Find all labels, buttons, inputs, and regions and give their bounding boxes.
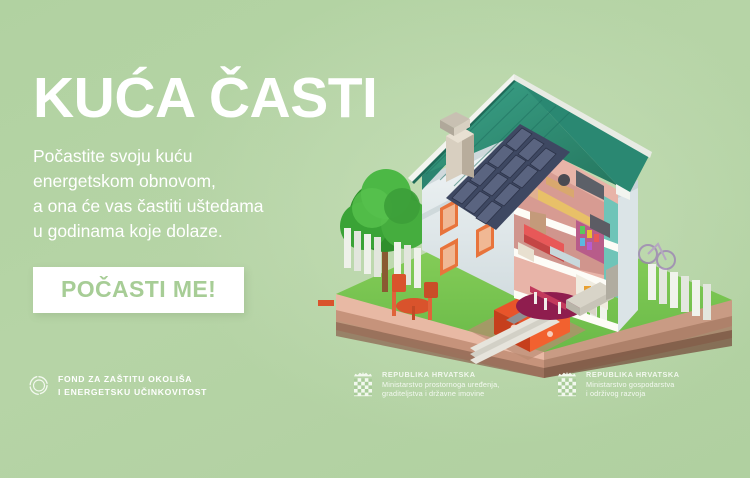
ministry-1-republic: REPUBLIKA HRVATSKA <box>382 370 499 380</box>
fond-logo-block[interactable]: FOND ZA ZAŠTITU OKOLIŠA I ENERGETSKU UČI… <box>28 372 207 399</box>
recycling-circle-logo <box>28 372 50 399</box>
fond-logo-text: FOND ZA ZAŠTITU OKOLIŠA I ENERGETSKU UČI… <box>58 373 207 398</box>
subcopy-line-1: Počastite svoju kuću <box>33 144 433 169</box>
subcopy: Počastite svoju kuću energetskom obnovom… <box>33 144 433 243</box>
ministry-2-logo-block[interactable]: REPUBLIKA HRVATSKA Ministarstvo gospodar… <box>556 370 680 399</box>
ministry-1-line-2: graditeljstva i državne imovine <box>382 389 499 399</box>
fond-line-2: I ENERGETSKU UČINKOVITOST <box>58 386 207 398</box>
subcopy-line-4: u godinama koje dolaze. <box>33 219 433 244</box>
ministry-2-republic: REPUBLIKA HRVATSKA <box>586 370 680 380</box>
call-to-action-button[interactable]: POČASTI ME! <box>33 267 244 313</box>
croatian-coat-of-arms <box>352 371 374 398</box>
ministry-1-logo-block[interactable]: REPUBLIKA HRVATSKA Ministarstvo prostorn… <box>352 370 499 399</box>
fond-line-1: FOND ZA ZAŠTITU OKOLIŠA <box>58 373 207 385</box>
ministry-1-line-1: Ministarstvo prostornoga uređenja, <box>382 380 499 390</box>
page-title: KUĆA ČASTI <box>33 70 433 127</box>
ministry-2-line-1: Ministarstvo gospodarstva <box>586 380 680 390</box>
ministry-2-text: REPUBLIKA HRVATSKA Ministarstvo gospodar… <box>586 370 680 399</box>
ministry-2-line-2: i održivog razvoja <box>586 389 680 399</box>
subcopy-line-3: a ona će vas častiti uštedama <box>33 194 433 219</box>
croatian-coat-of-arms <box>556 371 578 398</box>
house-right-facade <box>618 180 638 332</box>
banner-content: KUĆA ČASTI Počastite svoju kuću energets… <box>33 70 433 313</box>
ministry-1-text: REPUBLIKA HRVATSKA Ministarstvo prostorn… <box>382 370 499 399</box>
subcopy-line-2: energetskom obnovom, <box>33 169 433 194</box>
campaign-banner: KUĆA ČASTI Počastite svoju kuću energets… <box>0 0 750 478</box>
footer-logos: FOND ZA ZAŠTITU OKOLIŠA I ENERGETSKU UČI… <box>0 368 750 420</box>
